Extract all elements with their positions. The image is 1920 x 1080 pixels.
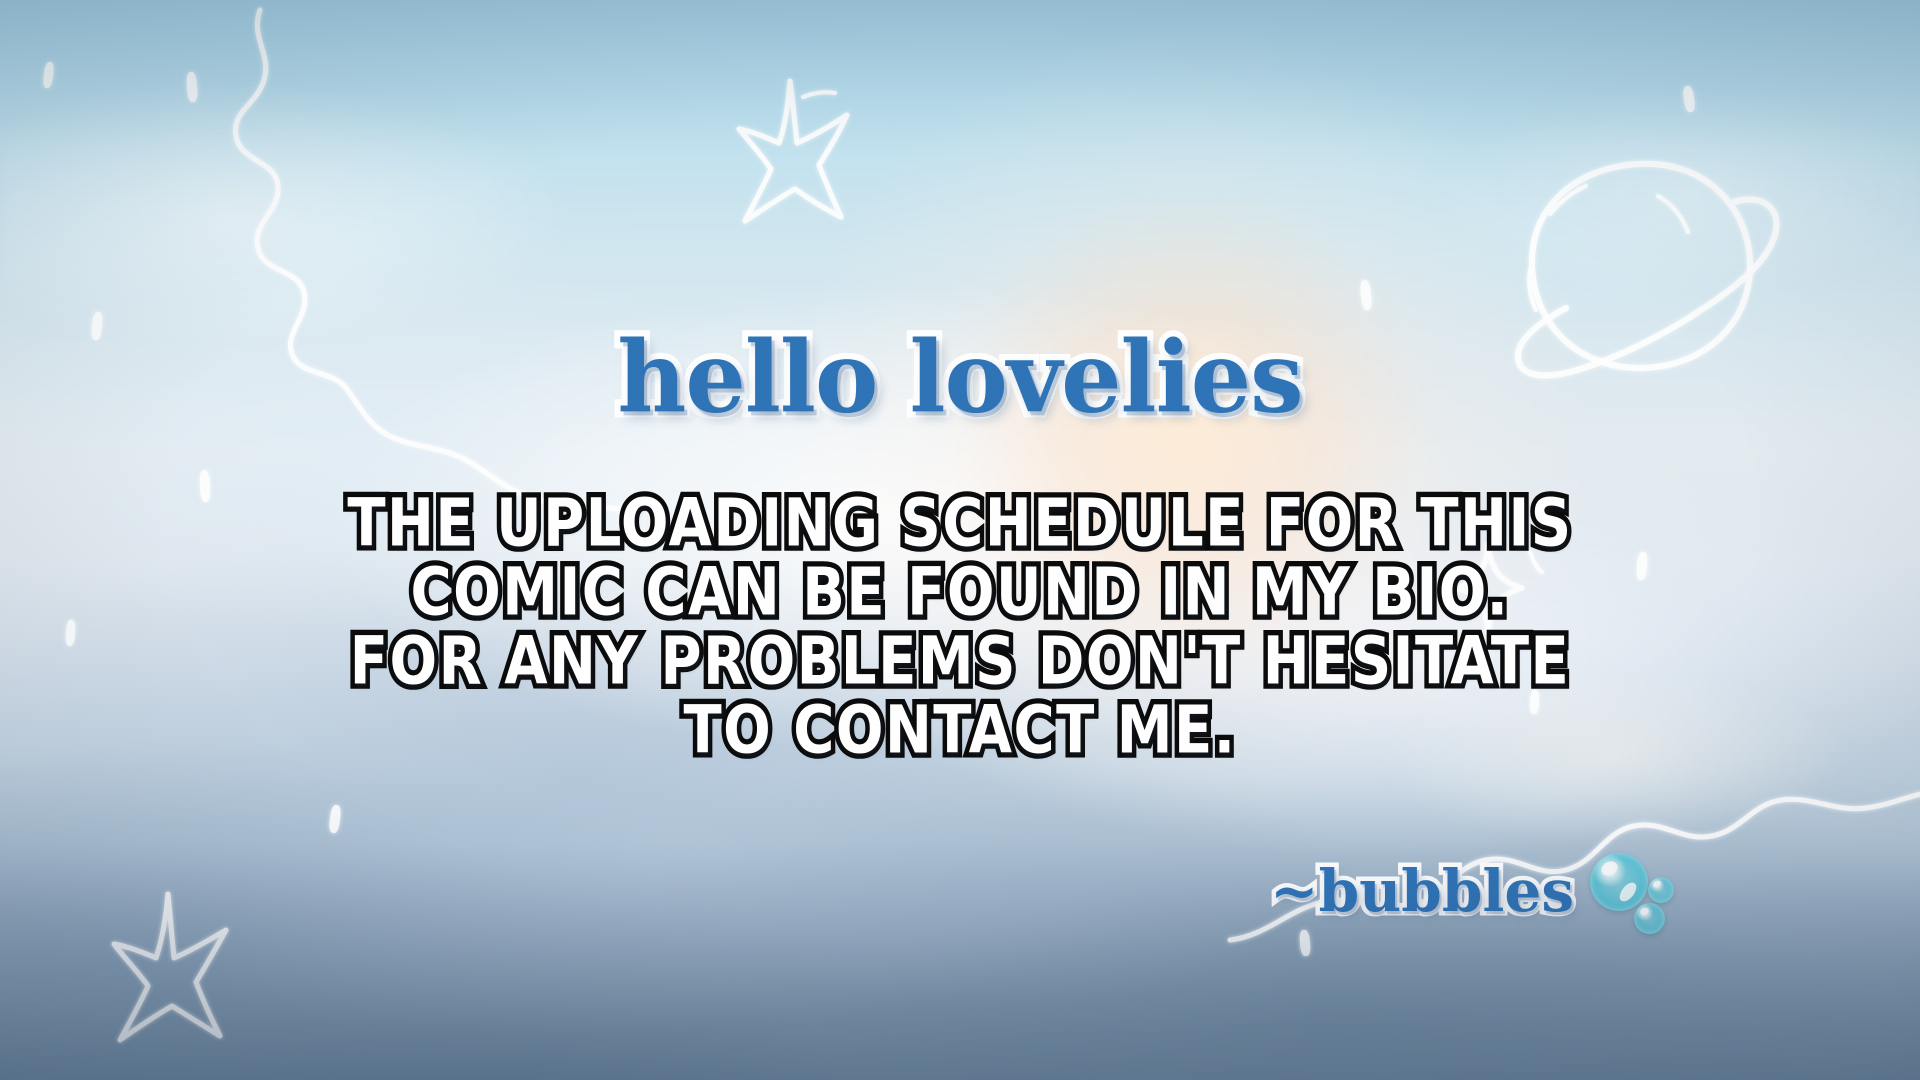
- page-title: hello lovelies: [0, 330, 1920, 425]
- bubbles-icon: [1588, 845, 1680, 937]
- announcement-body: THE UPLOADING SCHEDULE FOR THIS COMIC CA…: [0, 490, 1920, 766]
- signature: ~bubbles: [1270, 845, 1680, 937]
- body-line: TO CONTACT ME.: [0, 697, 1920, 764]
- text-content: hello lovelies THE UPLOADING SCHEDULE FO…: [0, 0, 1920, 1080]
- announcement-card: hello lovelies THE UPLOADING SCHEDULE FO…: [0, 0, 1920, 1080]
- body-line: FOR ANY PROBLEMS DON'T HESITATE: [0, 628, 1920, 695]
- body-line: COMIC CAN BE FOUND IN MY BIO.: [0, 559, 1920, 626]
- signature-text: ~bubbles: [1270, 862, 1574, 920]
- page-title-text: hello lovelies: [617, 328, 1302, 427]
- body-line: THE UPLOADING SCHEDULE FOR THIS: [0, 490, 1920, 557]
